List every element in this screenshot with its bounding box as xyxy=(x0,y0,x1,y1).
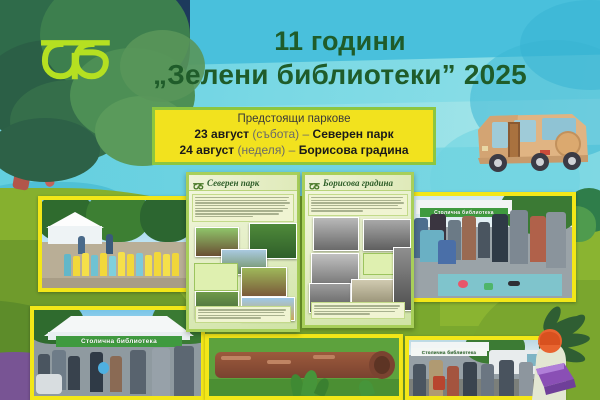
schedule-place: Борисова градина xyxy=(299,143,409,157)
title-line-2: „Зелени библиотеки” 2025 xyxy=(120,58,560,91)
title-line-1: 11 години xyxy=(120,26,560,58)
info-board-severen-park: Северен парк xyxy=(186,172,300,332)
board-title: Борисова градина xyxy=(323,178,393,188)
banner-text: Столична библиотека xyxy=(411,348,487,356)
banner-text: Столична библиотека xyxy=(56,336,182,347)
schedule-dash: – xyxy=(303,127,310,141)
poster-canvas: 11 години „Зелени библиотеки” 2025 Предс… xyxy=(0,0,600,400)
library-tent-photo: Столична библиотека xyxy=(30,306,205,400)
board-footer-text xyxy=(195,306,291,323)
children-choir-photo xyxy=(38,196,190,292)
schedule-date: 24 август xyxy=(180,143,235,157)
camper-van-illustration xyxy=(468,100,598,178)
board-header: Северен парк xyxy=(189,175,297,191)
person-reading-book-illustration xyxy=(530,295,600,400)
schedule-heading: Предстоящи паркове xyxy=(161,113,427,125)
info-board-borisova-gradina: Борисова градина xyxy=(302,172,414,328)
fallen-log-illustration xyxy=(205,334,403,400)
board-intro-text xyxy=(192,194,294,222)
sb-monogram-small-icon xyxy=(193,178,204,187)
schedule-date: 23 август xyxy=(194,127,249,141)
schedule-day: (неделя) xyxy=(238,143,286,157)
page-title: 11 години „Зелени библиотеки” 2025 xyxy=(120,26,560,91)
schedule-box: Предстоящи паркове 23 август (събота) – … xyxy=(152,107,436,165)
schedule-dash: – xyxy=(289,143,296,157)
board-footer-text xyxy=(311,302,405,319)
board-intro-text xyxy=(308,194,408,216)
sb-monogram-small-icon xyxy=(309,178,320,187)
craft-tables-crowd-photo: Столична библиотека xyxy=(408,192,576,302)
board-header: Борисова градина xyxy=(305,175,411,191)
schedule-row: 23 август (събота) – Северен парк xyxy=(161,127,427,141)
schedule-row: 24 август (неделя) – Борисова градина xyxy=(161,143,427,157)
board-title: Северен парк xyxy=(207,178,259,188)
schedule-day: (събота) xyxy=(252,127,299,141)
schedule-place: Северен парк xyxy=(313,127,394,141)
sb-monogram-logo xyxy=(40,32,112,87)
